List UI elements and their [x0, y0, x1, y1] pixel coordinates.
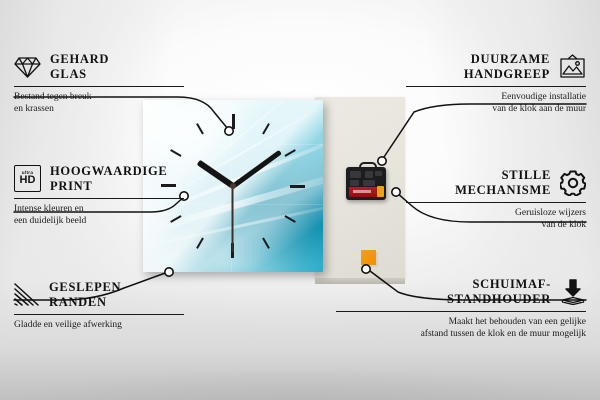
feature-title-line2: PRINT: [50, 179, 167, 194]
feature-title-line2: MECHANISME: [455, 183, 551, 198]
ultra-hd-icon: ultra HD: [14, 165, 41, 192]
connector-marker: [362, 265, 370, 273]
feature-header: STILLE MECHANISME: [406, 168, 586, 198]
feature-title: STILLE MECHANISME: [455, 168, 551, 198]
feature-title: HOOGWAARDIGE PRINT: [50, 164, 167, 194]
picture-hanger-icon: [559, 54, 586, 79]
connector-marker: [225, 127, 233, 135]
feature-stille-mechanisme: STILLE MECHANISME Geruisloze wijzers van…: [406, 168, 586, 232]
feature-title-line2: RANDEN: [49, 295, 121, 310]
feature-gehard-glas: GEHARD GLAS Bestand tegen breuk en krass…: [14, 52, 184, 116]
infographic-canvas: GEHARD GLAS Bestand tegen breuk en krass…: [0, 0, 600, 400]
down-arrow-stack-icon: [560, 279, 586, 305]
feature-title-line2: GLAS: [50, 67, 109, 82]
feature-rule: [406, 202, 586, 203]
feature-rule: [14, 86, 184, 87]
feature-title: DUURZAME HANDGREEP: [464, 52, 550, 82]
feature-title: GEHARD GLAS: [50, 52, 109, 82]
feature-title-line1: GESLEPEN: [49, 280, 121, 295]
feature-header: DUURZAME HANDGREEP: [406, 52, 586, 82]
feature-schuimafstandhouder: SCHUIMAF- STANDHOUDER Maakt het behouden…: [336, 277, 586, 341]
feature-rule: [14, 198, 184, 199]
feature-header: GESLEPEN RANDEN: [14, 280, 184, 310]
connector-marker: [392, 188, 400, 196]
ultra-hd-icon-main-text: HD: [20, 175, 36, 186]
feature-rule: [336, 311, 586, 312]
feature-geslepen-randen: GESLEPEN RANDEN Gladde en veilige afwerk…: [14, 280, 184, 331]
feature-rule: [14, 314, 184, 315]
feature-rule: [406, 86, 586, 87]
feature-description: Intense kleuren en een duidelijk beeld: [14, 203, 184, 228]
feature-title-line1: GEHARD: [50, 52, 109, 67]
feature-hoogwaardige-print: ultra HD HOOGWAARDIGE PRINT Intense kleu…: [14, 164, 184, 228]
feature-description: Maakt het behouden van een gelijke afsta…: [336, 316, 586, 341]
feature-header: SCHUIMAF- STANDHOUDER: [336, 277, 586, 307]
feature-title: GESLEPEN RANDEN: [49, 280, 121, 310]
feature-title-line1: HOOGWAARDIGE: [50, 164, 167, 179]
feature-header: ultra HD HOOGWAARDIGE PRINT: [14, 164, 184, 194]
feature-title-line2: STANDHOUDER: [447, 292, 551, 307]
feature-description: Gladde en veilige afwerking: [14, 319, 184, 332]
feature-description: Geruisloze wijzers van de klok: [406, 207, 586, 232]
feature-description: Eenvoudige installatie van de klok aan d…: [406, 91, 586, 116]
feature-title-line1: STILLE: [455, 168, 551, 183]
feature-duurzame-handgreep: DUURZAME HANDGREEP Eenvoudige installati…: [406, 52, 586, 116]
feature-description: Bestand tegen breuk en krassen: [14, 91, 184, 116]
feature-title-line2: HANDGREEP: [464, 67, 550, 82]
feature-header: GEHARD GLAS: [14, 52, 184, 82]
diamond-icon: [14, 55, 41, 79]
feature-title-line1: DUURZAME: [464, 52, 550, 67]
beveled-edges-icon: [14, 283, 40, 307]
connector-marker: [165, 268, 173, 276]
feature-title-line1: SCHUIMAF-: [447, 277, 551, 292]
feature-title: SCHUIMAF- STANDHOUDER: [447, 277, 551, 307]
connector-marker: [378, 157, 386, 165]
gear-icon: [560, 170, 586, 196]
